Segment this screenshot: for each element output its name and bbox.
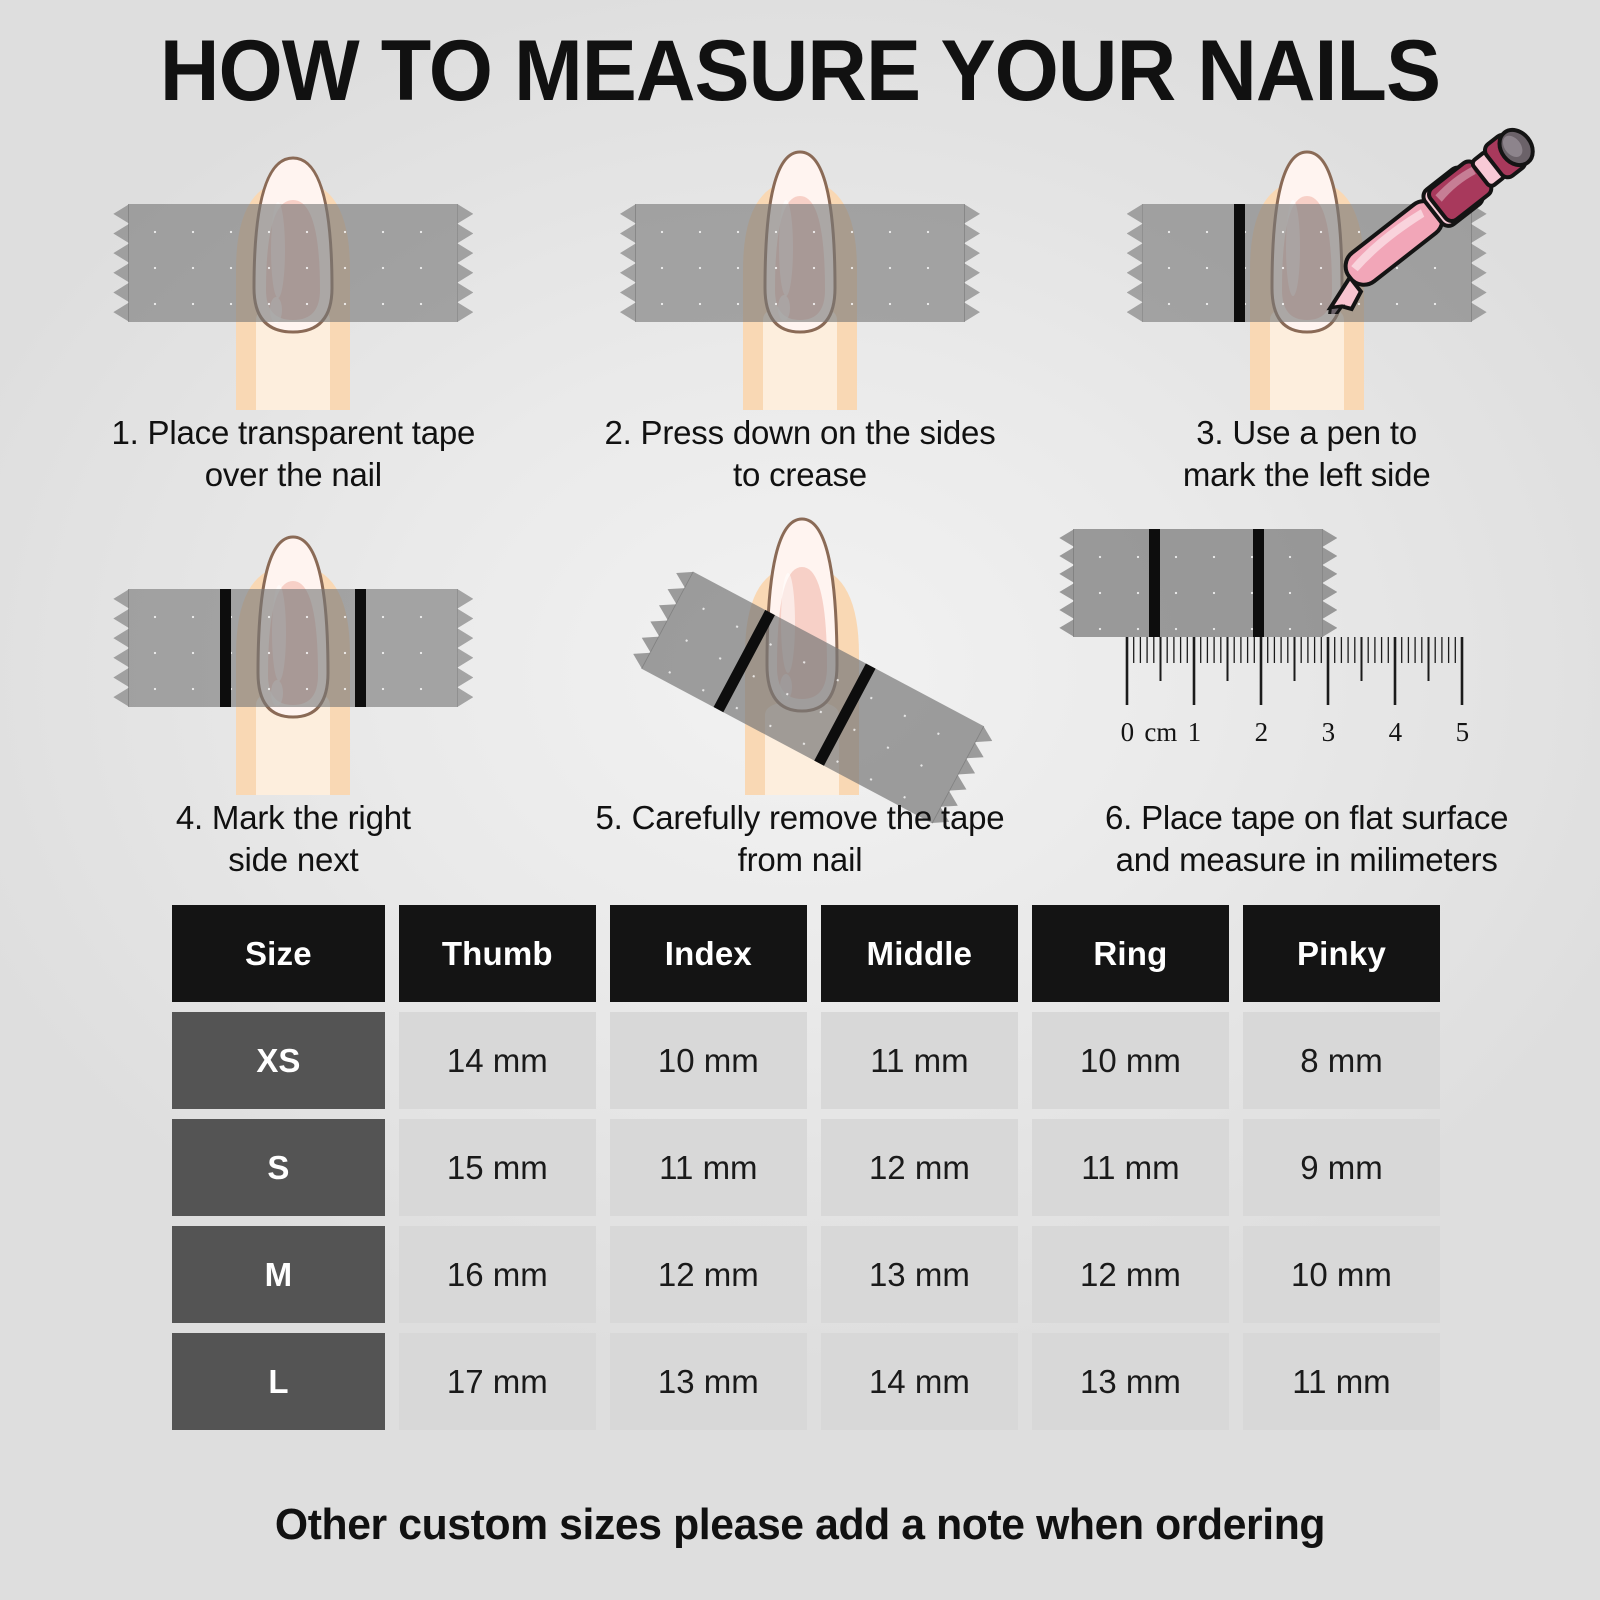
table-header-index: Index bbox=[610, 905, 807, 1002]
table-cell: 14 mm bbox=[399, 1012, 596, 1109]
step-4-illustration bbox=[40, 505, 547, 795]
table-cell: 13 mm bbox=[1032, 1333, 1229, 1430]
tape-texture bbox=[128, 589, 458, 707]
tape-texture bbox=[128, 204, 458, 322]
table-cell: 17 mm bbox=[399, 1333, 596, 1430]
step-5-illustration bbox=[547, 505, 1054, 795]
table-header-thumb: Thumb bbox=[399, 905, 596, 1002]
ruler-tick-label-5: 5 bbox=[1456, 717, 1470, 748]
table-cell: 12 mm bbox=[821, 1119, 1018, 1216]
step-2-line2: to crease bbox=[547, 454, 1054, 496]
step-6-illustration: 0cm12345 bbox=[1053, 505, 1560, 795]
step-2-caption: 2. Press down on the sides to crease bbox=[547, 412, 1054, 496]
step-4-line2: side next bbox=[40, 839, 547, 881]
table-header-pinky: Pinky bbox=[1243, 905, 1440, 1002]
step-3-illustration bbox=[1053, 120, 1560, 410]
step-6-line2: and measure in milimeters bbox=[1053, 839, 1560, 881]
pen-mark-right bbox=[355, 589, 366, 707]
page-title: HOW TO MEASURE YOUR NAILS bbox=[32, 28, 1568, 114]
step-5: 5. Carefully remove the tape from nail bbox=[547, 505, 1054, 890]
ruler-unit-label: cm bbox=[1144, 717, 1177, 748]
step-1-line1: 1. Place transparent tape bbox=[40, 412, 547, 454]
ruler-tick-label-0: 0 bbox=[1121, 717, 1135, 748]
step-3-line1: 3. Use a pen to bbox=[1053, 412, 1560, 454]
table-cell: 13 mm bbox=[821, 1226, 1018, 1323]
table-header-ring: Ring bbox=[1032, 905, 1229, 1002]
table-cell: 12 mm bbox=[610, 1226, 807, 1323]
pen-mark-left bbox=[1234, 204, 1245, 322]
table-cell: 11 mm bbox=[1243, 1333, 1440, 1430]
step-3-caption: 3. Use a pen to mark the left side bbox=[1053, 412, 1560, 496]
size-chart-table: SizeThumbIndexMiddleRingPinkyXS14 mm10 m… bbox=[172, 905, 1440, 1430]
step-2-illustration bbox=[547, 120, 1054, 410]
table-cell: 10 mm bbox=[1243, 1226, 1440, 1323]
tape-texture bbox=[635, 204, 965, 322]
step-5-line2: from nail bbox=[547, 839, 1054, 881]
step-1-caption: 1. Place transparent tape over the nail bbox=[40, 412, 547, 496]
step-5-line1: 5. Carefully remove the tape bbox=[547, 797, 1054, 839]
step-1: 1. Place transparent tape over the nail bbox=[40, 120, 547, 505]
ruler-tick-label-2: 2 bbox=[1255, 717, 1269, 748]
table-size-label: M bbox=[172, 1226, 385, 1323]
table-cell: 10 mm bbox=[1032, 1012, 1229, 1109]
pen-icon bbox=[1306, 114, 1556, 314]
table-cell: 9 mm bbox=[1243, 1119, 1440, 1216]
step-4-line1: 4. Mark the right bbox=[40, 797, 547, 839]
table-cell: 16 mm bbox=[399, 1226, 596, 1323]
step-1-line2: over the nail bbox=[40, 454, 547, 496]
step-3: 3. Use a pen to mark the left side bbox=[1053, 120, 1560, 505]
tape-strip bbox=[128, 589, 458, 707]
steps-grid: 1. Place transparent tape over the nail bbox=[40, 120, 1560, 890]
table-size-label: XS bbox=[172, 1012, 385, 1109]
step-2-line1: 2. Press down on the sides bbox=[547, 412, 1054, 454]
step-1-illustration bbox=[40, 120, 547, 410]
step-3-line2: mark the left side bbox=[1053, 454, 1560, 496]
table-cell: 14 mm bbox=[821, 1333, 1018, 1430]
tape-strip bbox=[635, 204, 965, 322]
footer-note: Other custom sizes please add a note whe… bbox=[24, 1500, 1576, 1550]
table-size-label: S bbox=[172, 1119, 385, 1216]
ruler-tick-label-1: 1 bbox=[1188, 717, 1202, 748]
table-cell: 15 mm bbox=[399, 1119, 596, 1216]
pen-mark-left bbox=[1149, 529, 1160, 637]
table-header-size: Size bbox=[172, 905, 385, 1002]
step-4-caption: 4. Mark the right side next bbox=[40, 797, 547, 881]
step-5-caption: 5. Carefully remove the tape from nail bbox=[547, 797, 1054, 881]
step-4: 4. Mark the right side next bbox=[40, 505, 547, 890]
step-6-caption: 6. Place tape on flat surface and measur… bbox=[1053, 797, 1560, 881]
tape-strip bbox=[128, 204, 458, 322]
table-cell: 8 mm bbox=[1243, 1012, 1440, 1109]
infographic-page: HOW TO MEASURE YOUR NAILS 1. Place trans… bbox=[0, 0, 1600, 1600]
tape-texture bbox=[1073, 529, 1323, 637]
tape-strip-flat bbox=[1073, 529, 1323, 637]
pen-mark-left bbox=[713, 610, 774, 712]
table-cell: 11 mm bbox=[1032, 1119, 1229, 1216]
pen-mark-right bbox=[814, 663, 875, 765]
ruler-tick-label-4: 4 bbox=[1389, 717, 1403, 748]
table-size-label: L bbox=[172, 1333, 385, 1430]
table-cell: 11 mm bbox=[821, 1012, 1018, 1109]
step-2: 2. Press down on the sides to crease bbox=[547, 120, 1054, 505]
table-cell: 10 mm bbox=[610, 1012, 807, 1109]
step-6-line1: 6. Place tape on flat surface bbox=[1053, 797, 1560, 839]
pen-mark-left bbox=[220, 589, 231, 707]
table-header-middle: Middle bbox=[821, 905, 1018, 1002]
step-6: 0cm12345 6. Place tape on flat surface a… bbox=[1053, 505, 1560, 890]
pen-mark-right bbox=[1253, 529, 1264, 637]
table-cell: 11 mm bbox=[610, 1119, 807, 1216]
ruler-tick-label-3: 3 bbox=[1322, 717, 1336, 748]
table-cell: 12 mm bbox=[1032, 1226, 1229, 1323]
table-cell: 13 mm bbox=[610, 1333, 807, 1430]
